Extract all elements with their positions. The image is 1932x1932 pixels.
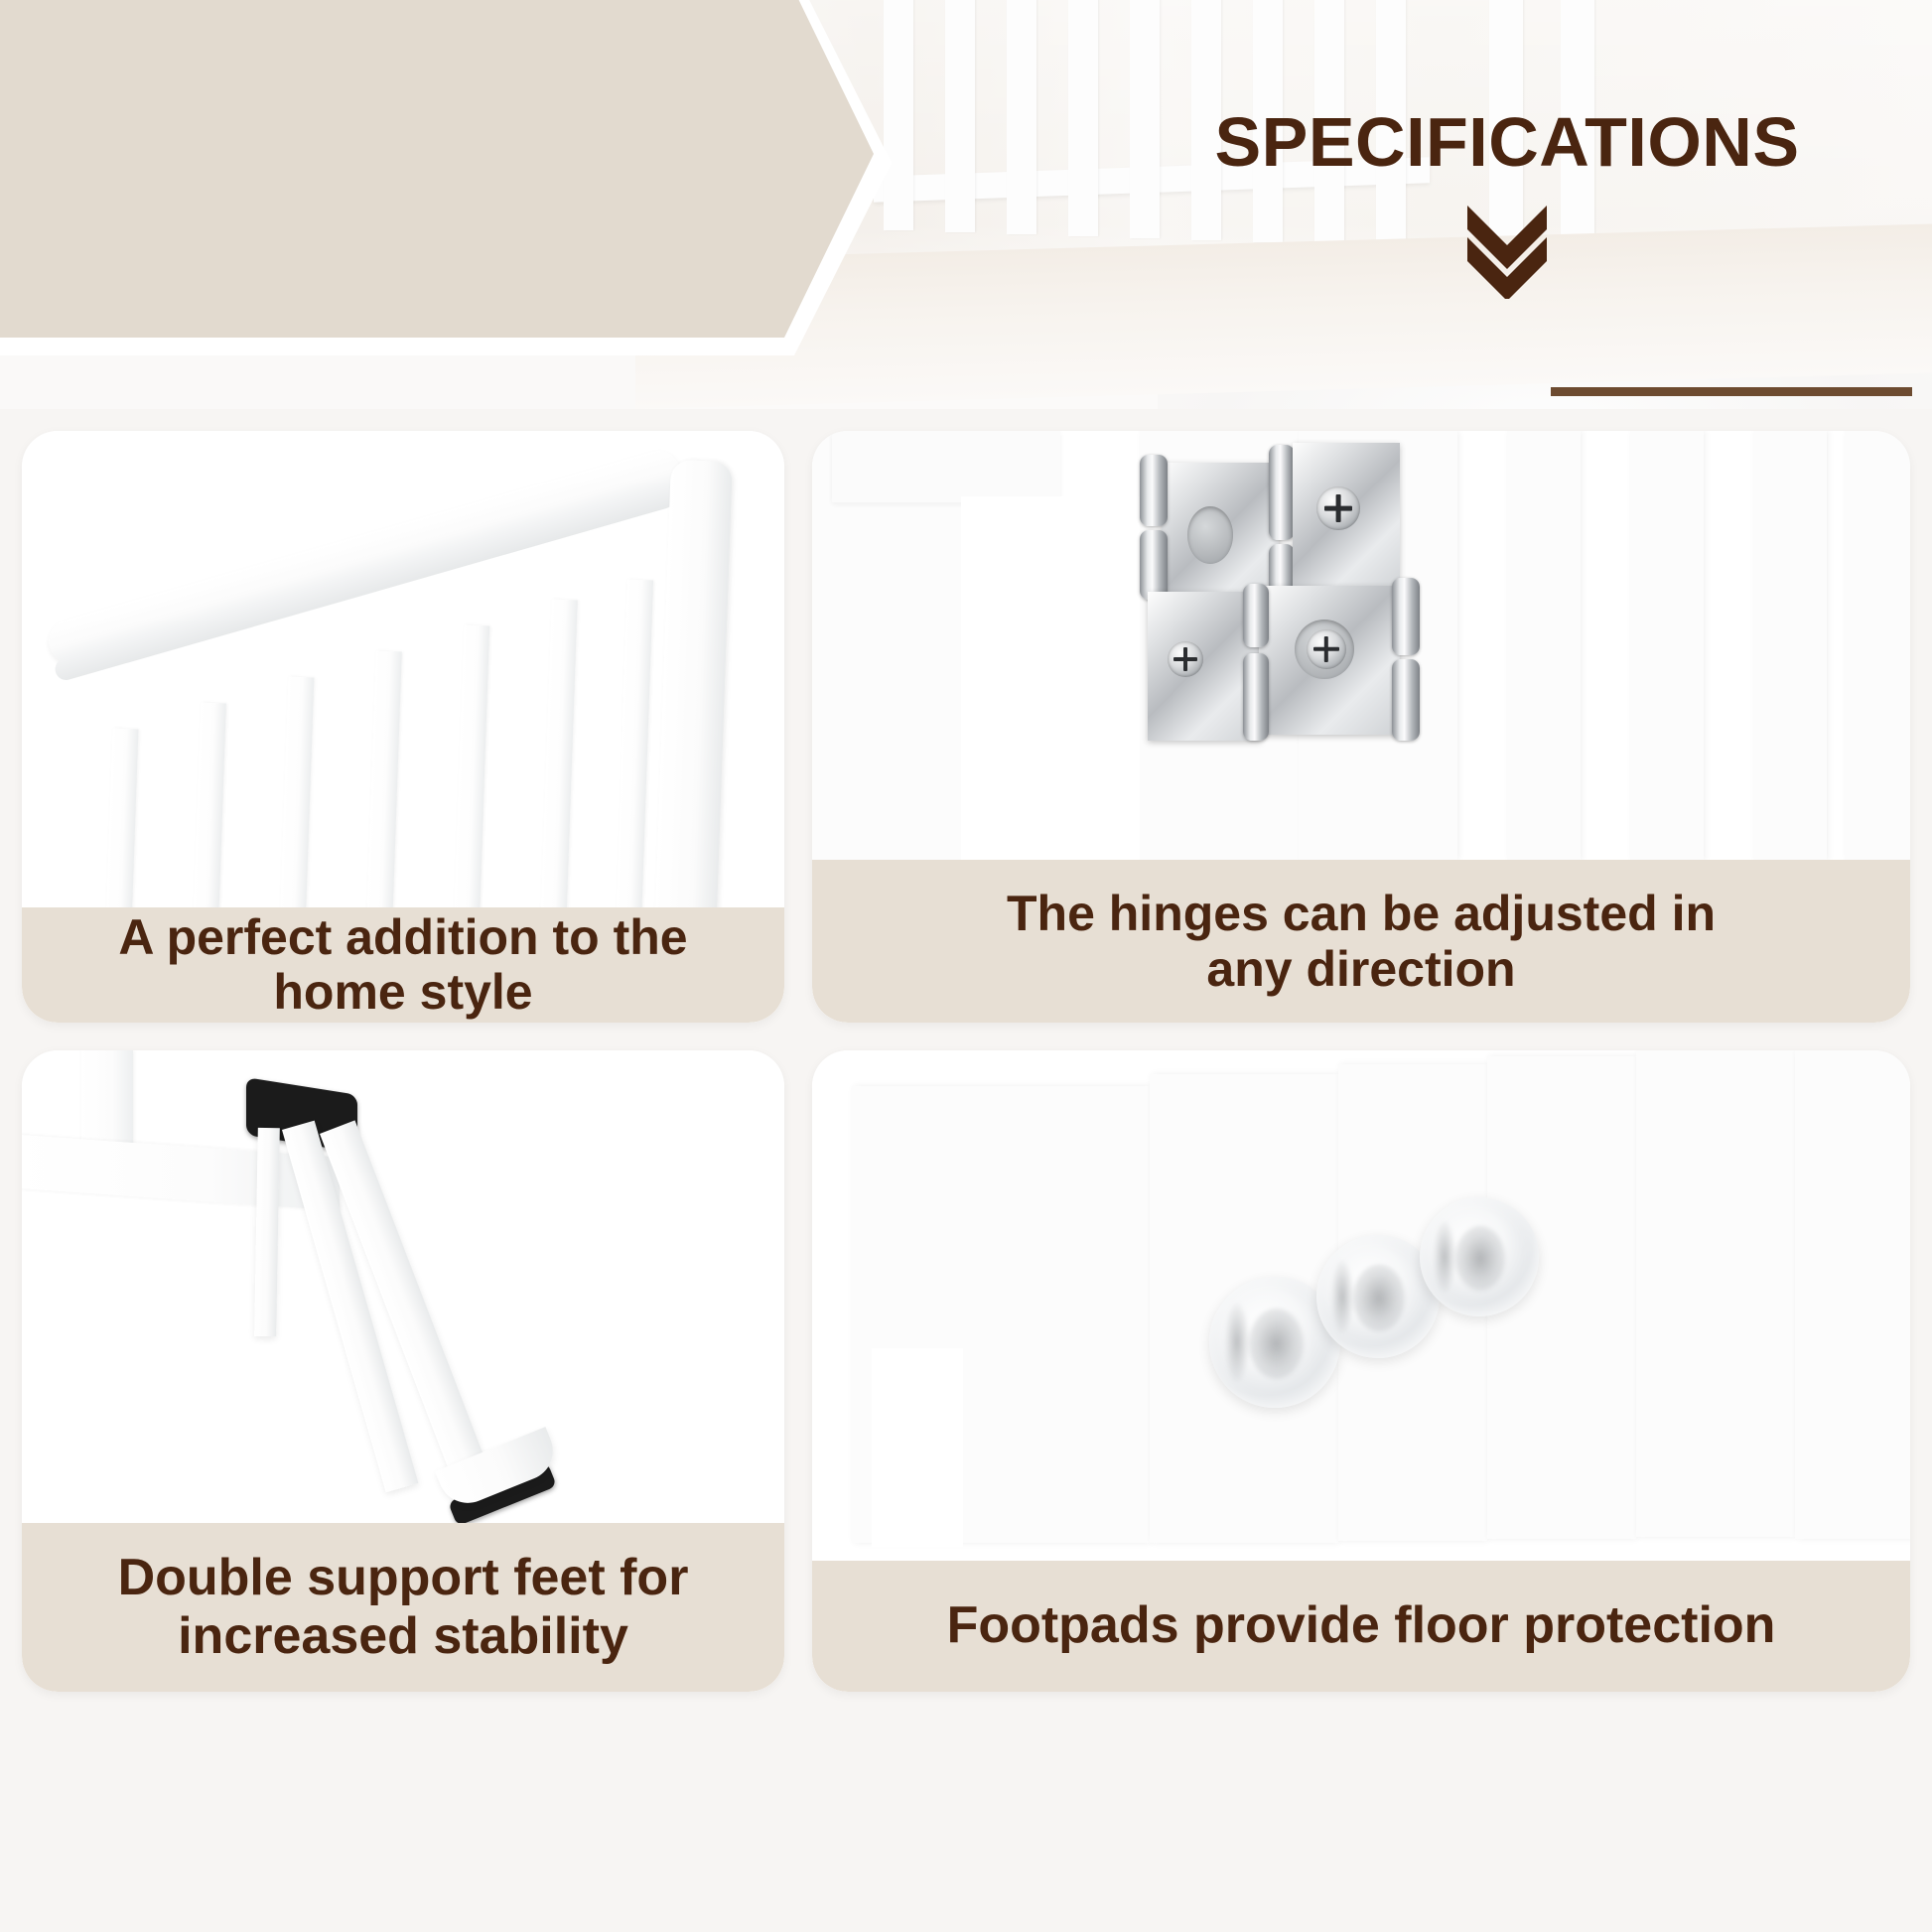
panel-cutout <box>872 1348 963 1547</box>
footpad <box>1420 1197 1539 1316</box>
hinge-knuckle <box>1140 530 1168 600</box>
fence-slat <box>1007 0 1036 234</box>
fence-slat <box>106 729 139 928</box>
support-leg-inner <box>254 1128 280 1336</box>
curved-top-rail <box>44 446 686 668</box>
curved-top-rail-shadow <box>53 484 677 683</box>
card-support-feet[interactable]: Double support feet for increased stabil… <box>22 1050 784 1692</box>
specifications-heading: SPECIFICATIONS <box>1110 102 1904 182</box>
fence-slat <box>454 625 490 928</box>
double-chevron-down-icon <box>1110 204 1904 299</box>
card-hinges-caption-line2: any direction <box>1007 941 1716 997</box>
hinge-knuckle <box>1392 659 1420 741</box>
card-footpads[interactable]: Footpads provide floor protection <box>812 1050 1910 1692</box>
fence-slat <box>1068 0 1098 236</box>
hinge-screw <box>1307 629 1346 669</box>
banner-shape <box>0 0 874 347</box>
hinge-knuckle <box>1269 445 1295 540</box>
hinge-knuckle <box>1243 584 1269 647</box>
fence-slat <box>366 651 402 928</box>
footpad-ring <box>1434 1221 1455 1293</box>
footpad-core <box>1249 1309 1304 1379</box>
hinge-screw <box>1316 486 1360 530</box>
right-slat <box>1753 431 1827 860</box>
footpad-ring <box>1225 1303 1249 1381</box>
card-home-style[interactable]: A perfect addition to the home style <box>22 431 784 1023</box>
card-footpads-caption: Footpads provide floor protection <box>812 1561 1910 1692</box>
card-hinges-caption: The hinges can be adjusted in any direct… <box>812 860 1910 1023</box>
card-support-feet-caption-line2: increased stability <box>118 1607 689 1666</box>
card-home-style-caption: A perfect addition to the home style <box>22 907 784 1023</box>
left-panel-top-bar <box>832 431 1060 502</box>
fence-slat <box>945 0 975 232</box>
hinge-screw <box>1168 641 1203 677</box>
card-hinges-caption-line1: The hinges can be adjusted in <box>1007 886 1716 941</box>
fence-slat <box>540 600 578 928</box>
right-slat <box>1630 431 1704 860</box>
hinge-knuckle <box>1140 455 1168 526</box>
footpad-ring <box>1331 1260 1353 1333</box>
fence-slat <box>280 677 315 928</box>
fence-slat <box>616 580 653 928</box>
right-slat <box>1845 431 1910 860</box>
footpad-core <box>1353 1265 1405 1331</box>
panel-slab-edge <box>1795 1050 1910 1539</box>
right-slat <box>1507 431 1581 860</box>
card-support-feet-caption-line1: Double support feet for <box>118 1549 689 1607</box>
header-accent-rule <box>1551 387 1912 396</box>
hinge-knuckle <box>1243 653 1269 741</box>
footpad-core <box>1455 1226 1505 1291</box>
card-hinges[interactable]: The hinges can be adjusted in any direct… <box>812 431 1910 1023</box>
card-support-feet-caption: Double support feet for increased stabil… <box>22 1523 784 1692</box>
fence-slat <box>884 0 913 230</box>
feature-card-grid: A perfect addition to the home style <box>0 409 1932 1932</box>
panel-gap <box>961 496 1140 860</box>
hinge-knuckle <box>1392 578 1420 655</box>
fence-slat <box>193 703 226 928</box>
hinge-upper-hole <box>1187 506 1233 564</box>
header-banner: FREESTANDING WOODEN FENCE Make Your life… <box>0 0 1932 409</box>
panel-slab <box>1636 1050 1795 1537</box>
corner-post <box>655 460 733 914</box>
